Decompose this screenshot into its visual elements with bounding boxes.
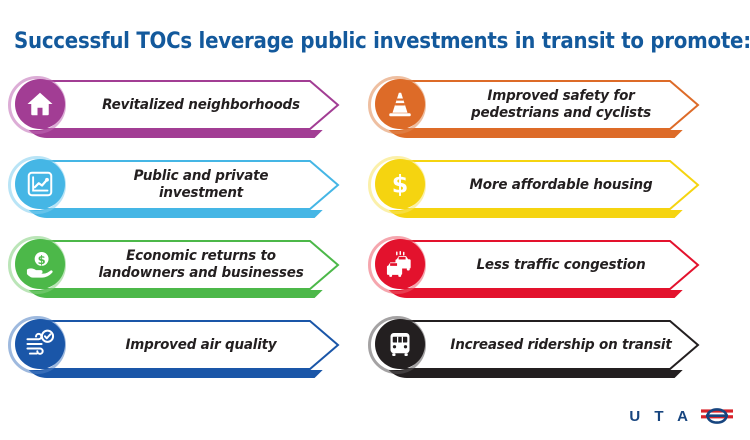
benefit-badge-increased-ridership[interactable]: Increased ridership on transit bbox=[368, 320, 716, 376]
traffic-cars-icon bbox=[368, 236, 426, 294]
benefit-badge-economic-returns[interactable]: $ Economic returns to landowners and bus… bbox=[8, 240, 356, 296]
badge-label: More affordable housing bbox=[450, 160, 671, 210]
uta-emblem-icon bbox=[700, 406, 734, 426]
air-quality-icon bbox=[8, 316, 66, 374]
badge-label: Increased ridership on transit bbox=[450, 320, 671, 370]
benefit-badge-less-traffic-congestion[interactable]: Less traffic congestion bbox=[368, 240, 716, 296]
svg-text:$: $ bbox=[38, 253, 46, 267]
bus-icon bbox=[368, 316, 426, 374]
svg-text:$: $ bbox=[392, 170, 409, 198]
house-icon bbox=[8, 76, 66, 134]
badge-label: Improved safety for pedestrians and cycl… bbox=[450, 80, 671, 130]
benefit-badge-improved-safety[interactable]: Improved safety for pedestrians and cycl… bbox=[368, 80, 716, 136]
traffic-cone-icon bbox=[368, 76, 426, 134]
hand-dollar-icon: $ bbox=[8, 236, 66, 294]
benefit-badge-revitalized-neighborhoods[interactable]: Revitalized neighborhoods bbox=[8, 80, 356, 136]
badge-label: Economic returns to landowners and busin… bbox=[90, 240, 311, 290]
badge-label: Revitalized neighborhoods bbox=[90, 80, 311, 130]
badge-label: Less traffic congestion bbox=[450, 240, 671, 290]
dollar-coin-icon: $ bbox=[368, 156, 426, 214]
badge-label: Public and private investment bbox=[90, 160, 311, 210]
page-title: Successful TOCs leverage public investme… bbox=[14, 28, 750, 54]
benefits-grid: Revitalized neighborhoods Improved safet… bbox=[0, 78, 750, 398]
uta-logo: U T A bbox=[629, 406, 734, 426]
uta-logo-text: U T A bbox=[629, 408, 693, 425]
benefit-badge-public-private-investment[interactable]: Public and private investment bbox=[8, 160, 356, 216]
badge-label: Improved air quality bbox=[90, 320, 311, 370]
line-chart-icon bbox=[8, 156, 66, 214]
benefit-badge-improved-air-quality[interactable]: Improved air quality bbox=[8, 320, 356, 376]
benefit-badge-affordable-housing[interactable]: $ More affordable housing bbox=[368, 160, 716, 216]
